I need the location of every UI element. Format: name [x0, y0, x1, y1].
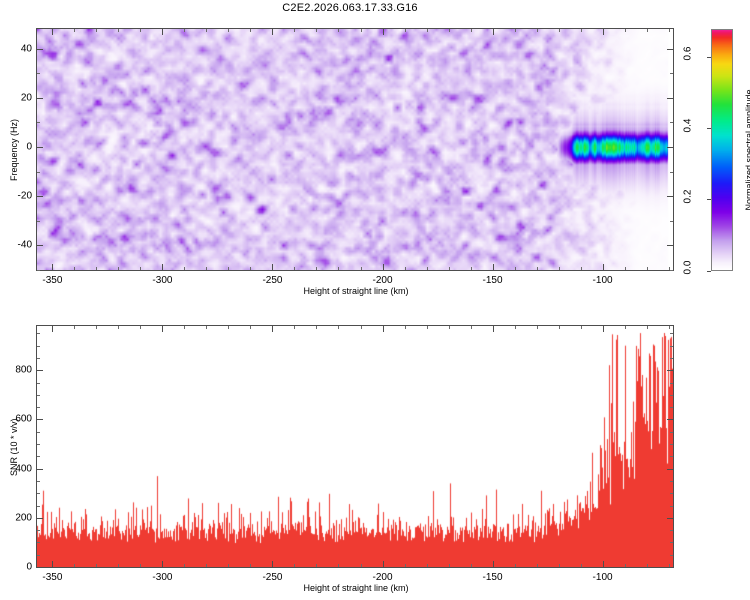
y-minor-tick — [670, 383, 673, 384]
x-minor-tick — [294, 564, 295, 567]
x-major-tick — [162, 326, 163, 332]
x-minor-tick — [74, 267, 75, 270]
y-minor-tick — [37, 555, 40, 556]
x-tick-label: -350 — [42, 275, 62, 286]
x-minor-tick — [294, 326, 295, 329]
x-minor-tick — [581, 564, 582, 567]
x-minor-tick — [537, 326, 538, 329]
x-minor-tick — [74, 564, 75, 567]
y-major-tick — [37, 370, 43, 371]
x-minor-tick — [625, 326, 626, 329]
x-minor-tick — [405, 326, 406, 329]
x-major-tick — [603, 326, 604, 332]
x-minor-tick — [140, 564, 141, 567]
y-major-tick — [37, 419, 43, 420]
x-minor-tick — [471, 564, 472, 567]
y-major-tick — [667, 567, 673, 568]
y-major-tick — [37, 49, 43, 50]
y-minor-tick — [37, 530, 40, 531]
y-major-tick — [37, 147, 43, 148]
colorbar-gradient — [711, 29, 733, 271]
x-minor-tick — [515, 564, 516, 567]
x-minor-tick — [471, 267, 472, 270]
x-minor-tick — [559, 564, 560, 567]
x-minor-tick — [471, 29, 472, 32]
colorbar-tick — [707, 128, 711, 129]
y-minor-tick — [37, 270, 40, 271]
x-minor-tick — [647, 29, 648, 32]
snr-x-axis-label: Height of straight line (km) — [303, 583, 408, 593]
y-tick-label: 40 — [2, 43, 32, 54]
x-minor-tick — [96, 326, 97, 329]
x-minor-tick — [515, 29, 516, 32]
x-major-tick — [52, 561, 53, 567]
x-minor-tick — [361, 564, 362, 567]
y-minor-tick — [670, 333, 673, 334]
x-minor-tick — [228, 267, 229, 270]
x-major-tick — [272, 326, 273, 332]
y-minor-tick — [37, 346, 40, 347]
y-minor-tick — [37, 542, 40, 543]
y-major-tick — [667, 370, 673, 371]
y-major-tick — [667, 518, 673, 519]
y-tick-label: 0 — [2, 562, 32, 573]
y-minor-tick — [670, 481, 673, 482]
x-tick-label: -250 — [262, 275, 282, 286]
spectrogram-image — [37, 29, 673, 270]
x-tick-label: -150 — [483, 275, 503, 286]
x-minor-tick — [250, 267, 251, 270]
y-minor-tick — [670, 358, 673, 359]
x-major-tick — [383, 264, 384, 270]
x-minor-tick — [96, 564, 97, 567]
x-major-tick — [52, 326, 53, 332]
x-tick-label: -200 — [372, 572, 392, 583]
y-major-tick — [37, 196, 43, 197]
y-minor-tick — [670, 444, 673, 445]
x-major-tick — [493, 29, 494, 35]
y-major-tick — [667, 147, 673, 148]
y-tick-label: 200 — [2, 512, 32, 523]
spectrogram-y-axis-label: Frequency (Hz) — [9, 119, 19, 181]
x-minor-tick — [625, 267, 626, 270]
y-minor-tick — [670, 395, 673, 396]
x-major-tick — [493, 264, 494, 270]
y-minor-tick — [670, 346, 673, 347]
x-minor-tick — [316, 29, 317, 32]
x-major-tick — [162, 29, 163, 35]
y-minor-tick — [670, 432, 673, 433]
colorbar-tick-label: 0.6 — [683, 43, 694, 65]
x-major-tick — [383, 29, 384, 35]
y-major-tick — [37, 567, 43, 568]
x-major-tick — [52, 29, 53, 35]
y-minor-tick — [37, 444, 40, 445]
x-minor-tick — [625, 29, 626, 32]
colorbar-tick — [707, 199, 711, 200]
colorbar-tick-label: 0.0 — [683, 257, 694, 279]
x-minor-tick — [74, 29, 75, 32]
y-minor-tick — [670, 73, 673, 74]
y-tick-label: -40 — [2, 240, 32, 251]
x-minor-tick — [581, 29, 582, 32]
x-tick-label: -350 — [42, 572, 62, 583]
x-minor-tick — [184, 326, 185, 329]
x-minor-tick — [206, 564, 207, 567]
x-minor-tick — [559, 267, 560, 270]
x-minor-tick — [228, 29, 229, 32]
x-minor-tick — [427, 267, 428, 270]
y-minor-tick — [37, 172, 40, 173]
y-tick-label: -20 — [2, 191, 32, 202]
y-major-tick — [37, 98, 43, 99]
y-major-tick — [667, 98, 673, 99]
y-minor-tick — [670, 270, 673, 271]
y-minor-tick — [670, 493, 673, 494]
x-major-tick — [383, 326, 384, 332]
x-minor-tick — [405, 267, 406, 270]
y-minor-tick — [670, 530, 673, 531]
y-minor-tick — [37, 122, 40, 123]
x-minor-tick — [118, 29, 119, 32]
x-tick-label: -150 — [483, 572, 503, 583]
snr-plot-line — [37, 326, 673, 567]
y-minor-tick — [670, 221, 673, 222]
x-minor-tick — [140, 326, 141, 329]
x-minor-tick — [581, 326, 582, 329]
y-minor-tick — [37, 432, 40, 433]
x-minor-tick — [250, 29, 251, 32]
x-minor-tick — [250, 326, 251, 329]
x-major-tick — [52, 264, 53, 270]
colorbar-tick — [707, 57, 711, 58]
x-minor-tick — [559, 326, 560, 329]
x-tick-label: -100 — [593, 275, 613, 286]
x-minor-tick — [647, 564, 648, 567]
page-title: C2E2.2026.063.17.33.G16 — [0, 2, 700, 14]
y-minor-tick — [670, 542, 673, 543]
x-minor-tick — [427, 564, 428, 567]
x-minor-tick — [669, 29, 670, 32]
y-minor-tick — [37, 395, 40, 396]
y-minor-tick — [37, 358, 40, 359]
x-major-tick — [383, 561, 384, 567]
x-minor-tick — [449, 326, 450, 329]
y-major-tick — [667, 49, 673, 50]
x-minor-tick — [361, 29, 362, 32]
y-tick-label: 800 — [2, 365, 32, 376]
x-minor-tick — [427, 326, 428, 329]
y-minor-tick — [37, 383, 40, 384]
x-minor-tick — [206, 267, 207, 270]
y-major-tick — [37, 245, 43, 246]
x-minor-tick — [338, 29, 339, 32]
x-minor-tick — [537, 564, 538, 567]
x-major-tick — [603, 29, 604, 35]
x-minor-tick — [206, 326, 207, 329]
y-minor-tick — [37, 456, 40, 457]
colorbar-tick — [707, 271, 711, 272]
snr-y-axis-label: SNR (10 * v/v) — [9, 418, 19, 476]
y-major-tick — [37, 518, 43, 519]
x-minor-tick — [96, 29, 97, 32]
x-minor-tick — [118, 564, 119, 567]
y-tick-label: 20 — [2, 92, 32, 103]
y-minor-tick — [37, 73, 40, 74]
x-minor-tick — [427, 29, 428, 32]
x-minor-tick — [250, 564, 251, 567]
x-minor-tick — [96, 267, 97, 270]
x-major-tick — [493, 561, 494, 567]
x-minor-tick — [184, 267, 185, 270]
x-major-tick — [603, 264, 604, 270]
x-minor-tick — [449, 564, 450, 567]
x-minor-tick — [449, 29, 450, 32]
x-minor-tick — [316, 564, 317, 567]
x-tick-label: -300 — [152, 572, 172, 583]
x-minor-tick — [140, 29, 141, 32]
x-minor-tick — [228, 564, 229, 567]
y-minor-tick — [670, 172, 673, 173]
y-minor-tick — [37, 333, 40, 334]
colorbar-tick-label: 0.2 — [683, 185, 694, 207]
y-minor-tick — [37, 221, 40, 222]
x-minor-tick — [338, 564, 339, 567]
x-major-tick — [493, 326, 494, 332]
x-tick-label: -200 — [372, 275, 392, 286]
x-minor-tick — [184, 564, 185, 567]
x-major-tick — [272, 264, 273, 270]
y-major-tick — [667, 245, 673, 246]
x-minor-tick — [537, 29, 538, 32]
x-major-tick — [603, 561, 604, 567]
y-major-tick — [37, 469, 43, 470]
x-minor-tick — [515, 267, 516, 270]
x-minor-tick — [405, 29, 406, 32]
x-minor-tick — [361, 326, 362, 329]
y-minor-tick — [670, 407, 673, 408]
x-minor-tick — [559, 29, 560, 32]
x-minor-tick — [118, 267, 119, 270]
x-minor-tick — [228, 326, 229, 329]
x-major-tick — [272, 561, 273, 567]
y-minor-tick — [670, 122, 673, 123]
x-minor-tick — [449, 267, 450, 270]
x-minor-tick — [647, 326, 648, 329]
y-minor-tick — [670, 456, 673, 457]
x-minor-tick — [184, 29, 185, 32]
y-minor-tick — [37, 481, 40, 482]
y-minor-tick — [37, 506, 40, 507]
x-minor-tick — [294, 267, 295, 270]
x-tick-label: -100 — [593, 572, 613, 583]
x-minor-tick — [294, 29, 295, 32]
x-minor-tick — [625, 564, 626, 567]
x-minor-tick — [669, 326, 670, 329]
x-minor-tick — [140, 267, 141, 270]
x-minor-tick — [537, 267, 538, 270]
x-minor-tick — [647, 267, 648, 270]
x-minor-tick — [118, 326, 119, 329]
snr-axes — [36, 325, 674, 568]
y-major-tick — [667, 419, 673, 420]
y-minor-tick — [37, 493, 40, 494]
x-minor-tick — [74, 326, 75, 329]
y-minor-tick — [670, 506, 673, 507]
figure-root: C2E2.2026.063.17.33.G16 -350-300-250-200… — [0, 0, 750, 600]
x-minor-tick — [581, 267, 582, 270]
x-minor-tick — [316, 326, 317, 329]
y-minor-tick — [37, 407, 40, 408]
x-tick-label: -300 — [152, 275, 172, 286]
colorbar-label: Normalized spectral amplitude — [744, 89, 750, 210]
x-minor-tick — [316, 267, 317, 270]
x-minor-tick — [515, 326, 516, 329]
colorbar-tick-label: 0.4 — [683, 114, 694, 136]
x-tick-label: -250 — [262, 572, 282, 583]
x-major-tick — [272, 29, 273, 35]
x-minor-tick — [405, 564, 406, 567]
x-minor-tick — [361, 267, 362, 270]
y-major-tick — [667, 469, 673, 470]
y-minor-tick — [670, 555, 673, 556]
x-minor-tick — [338, 326, 339, 329]
x-major-tick — [162, 561, 163, 567]
y-major-tick — [667, 196, 673, 197]
x-major-tick — [162, 264, 163, 270]
x-minor-tick — [471, 326, 472, 329]
x-minor-tick — [338, 267, 339, 270]
spectrogram-axes — [36, 28, 674, 271]
spectrogram-x-axis-label: Height of straight line (km) — [303, 286, 408, 296]
x-minor-tick — [206, 29, 207, 32]
